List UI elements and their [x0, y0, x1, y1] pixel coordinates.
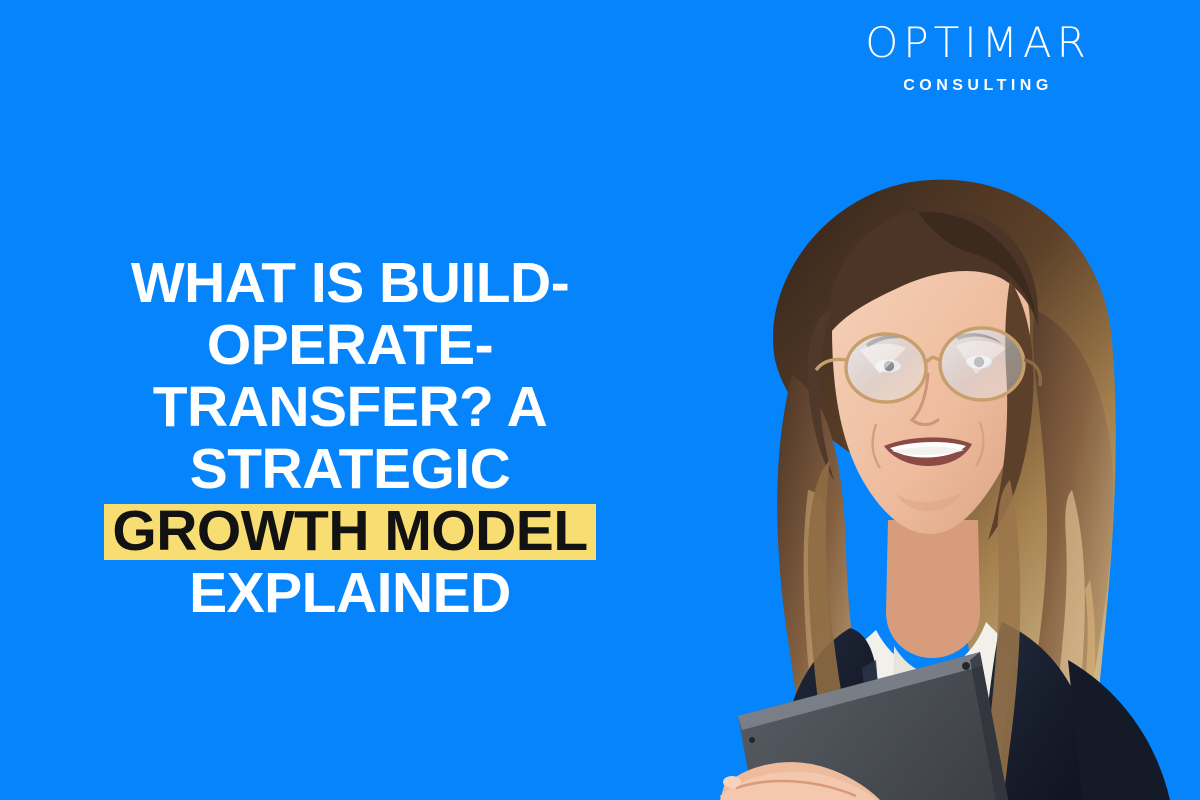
hero-photo	[680, 160, 1200, 800]
headline-line-3: TRANSFER? A	[60, 376, 640, 438]
logo-tagline: CONSULTING	[848, 78, 1108, 94]
headline-line-last: EXPLAINED	[60, 562, 640, 624]
banner-canvas: OPTIMAR CONSULTING WHAT IS BUILD- OPERAT…	[0, 0, 1200, 800]
woman-with-tablet-illustration	[680, 160, 1200, 800]
headline-line-1: WHAT IS BUILD-	[60, 252, 640, 314]
brand-logo[interactable]: OPTIMAR CONSULTING	[848, 22, 1108, 94]
headline-line-2: OPERATE-	[60, 314, 640, 376]
headline-highlight: GROWTH MODEL	[104, 504, 595, 560]
headline-block: WHAT IS BUILD- OPERATE- TRANSFER? A STRA…	[60, 252, 640, 624]
headline-line-4: STRATEGIC	[60, 438, 640, 500]
logo-wordmark: OPTIMAR	[848, 22, 1108, 64]
